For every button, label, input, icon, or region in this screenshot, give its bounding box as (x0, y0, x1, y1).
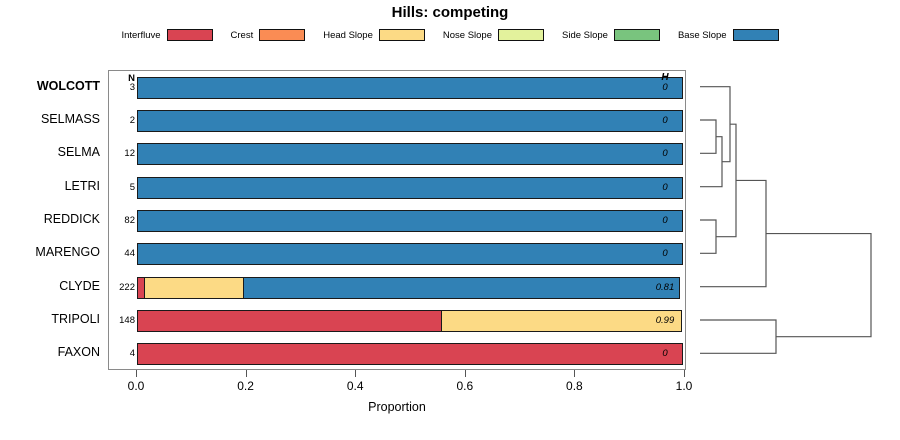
category-label: SELMA (0, 145, 100, 159)
legend-color-swatch (614, 29, 660, 41)
legend-item[interactable]: Base Slope (678, 29, 779, 41)
legend-item-label: Crest (231, 30, 254, 41)
category-label: WOLCOTT (0, 79, 100, 93)
x-axis-title: Proportion (108, 400, 686, 414)
legend-item[interactable]: Head Slope (323, 29, 425, 41)
legend-color-swatch (259, 29, 305, 41)
legend-item[interactable]: Interfluve (121, 29, 212, 41)
h-value: 0 (645, 148, 685, 159)
bar-segment-base-slope[interactable] (137, 110, 683, 132)
bar-segment-base-slope[interactable] (137, 210, 683, 232)
legend-item[interactable]: Crest (231, 29, 306, 41)
x-axis-tick-label: 0.6 (445, 379, 485, 393)
bar-segment-base-slope[interactable] (137, 243, 683, 265)
n-value: 4 (109, 348, 135, 359)
legend-item-label: Interfluve (121, 30, 160, 41)
table-row: 3 (109, 71, 685, 104)
h-value: 0 (645, 182, 685, 193)
x-axis-tick (355, 370, 356, 377)
n-value: 3 (109, 82, 135, 93)
legend-item-label: Side Slope (562, 30, 608, 41)
legend-color-swatch (379, 29, 425, 41)
table-row: 222 (109, 271, 685, 304)
legend-item[interactable]: Side Slope (562, 29, 660, 41)
legend-color-swatch (733, 29, 779, 41)
bar-segment-base-slope[interactable] (137, 177, 683, 199)
n-value: 44 (109, 248, 135, 259)
category-label: REDDICK (0, 212, 100, 226)
table-row: 44 (109, 238, 685, 271)
stacked-bar[interactable] (137, 343, 683, 365)
h-value: 0 (645, 248, 685, 259)
x-axis-tick-label: 0.0 (116, 379, 156, 393)
table-row: 4 (109, 338, 685, 371)
x-axis-tick (136, 370, 137, 377)
x-axis-tick-label: 0.8 (554, 379, 594, 393)
x-axis-tick (465, 370, 466, 377)
stacked-bar[interactable] (137, 110, 683, 132)
stacked-bar[interactable] (137, 277, 683, 299)
table-row: 82 (109, 204, 685, 237)
chart-legend: InterfluveCrestHead SlopeNose SlopeSide … (0, 26, 900, 44)
legend-item-label: Base Slope (678, 30, 727, 41)
n-value: 12 (109, 148, 135, 159)
chart-title: Hills: competing (0, 4, 900, 21)
h-value: 0 (645, 115, 685, 126)
bar-rows: 3212582442221484 (109, 71, 685, 369)
n-value: 5 (109, 182, 135, 193)
stacked-bar[interactable] (137, 143, 683, 165)
x-axis-tick-label: 1.0 (664, 379, 704, 393)
bar-segment-interfluve[interactable] (137, 310, 443, 332)
x-axis-tick-label: 0.4 (335, 379, 375, 393)
bar-segment-base-slope[interactable] (137, 77, 683, 99)
category-label: CLYDE (0, 279, 100, 293)
x-axis: 0.00.20.40.60.81.0 (108, 370, 686, 371)
h-value: 0 (645, 82, 685, 93)
legend-item-label: Nose Slope (443, 30, 492, 41)
bar-segment-interfluve[interactable] (137, 343, 683, 365)
stacked-bar[interactable] (137, 210, 683, 232)
x-axis-tick-label: 0.2 (226, 379, 266, 393)
h-value: 0.81 (645, 282, 685, 293)
legend-item[interactable]: Nose Slope (443, 29, 544, 41)
h-value: 0 (645, 348, 685, 359)
n-value: 2 (109, 115, 135, 126)
stacked-bar[interactable] (137, 310, 683, 332)
x-axis-tick (246, 370, 247, 377)
plot-panel: N 3212582442221484 (108, 70, 686, 370)
chart-canvas: Hills: competing InterfluveCrestHead Slo… (0, 0, 900, 440)
h-column: H 0000000.810.990 (645, 70, 687, 370)
stacked-bar[interactable] (137, 77, 683, 99)
category-axis-labels: WOLCOTTSELMASSSELMALETRIREDDICKMARENGOCL… (0, 70, 104, 370)
category-label: LETRI (0, 179, 100, 193)
bar-segment-base-slope[interactable] (243, 277, 680, 299)
bar-segment-head-slope[interactable] (144, 277, 245, 299)
legend-color-swatch (498, 29, 544, 41)
category-label: TRIPOLI (0, 312, 100, 326)
stacked-bar[interactable] (137, 177, 683, 199)
table-row: 148 (109, 304, 685, 337)
stacked-bar[interactable] (137, 243, 683, 265)
x-axis-tick (574, 370, 575, 377)
dendrogram-tree (686, 70, 900, 370)
legend-item-label: Head Slope (323, 30, 373, 41)
n-value: 148 (109, 315, 135, 326)
category-label: MARENGO (0, 245, 100, 259)
dendrogram (686, 70, 900, 370)
table-row: 2 (109, 104, 685, 137)
x-axis-tick (684, 370, 685, 377)
h-value: 0 (645, 215, 685, 226)
n-value: 82 (109, 215, 135, 226)
bar-segment-base-slope[interactable] (137, 143, 683, 165)
table-row: 12 (109, 138, 685, 171)
legend-color-swatch (167, 29, 213, 41)
h-value: 0.99 (645, 315, 685, 326)
n-value: 222 (109, 282, 135, 293)
category-label: SELMASS (0, 112, 100, 126)
category-label: FAXON (0, 345, 100, 359)
table-row: 5 (109, 171, 685, 204)
